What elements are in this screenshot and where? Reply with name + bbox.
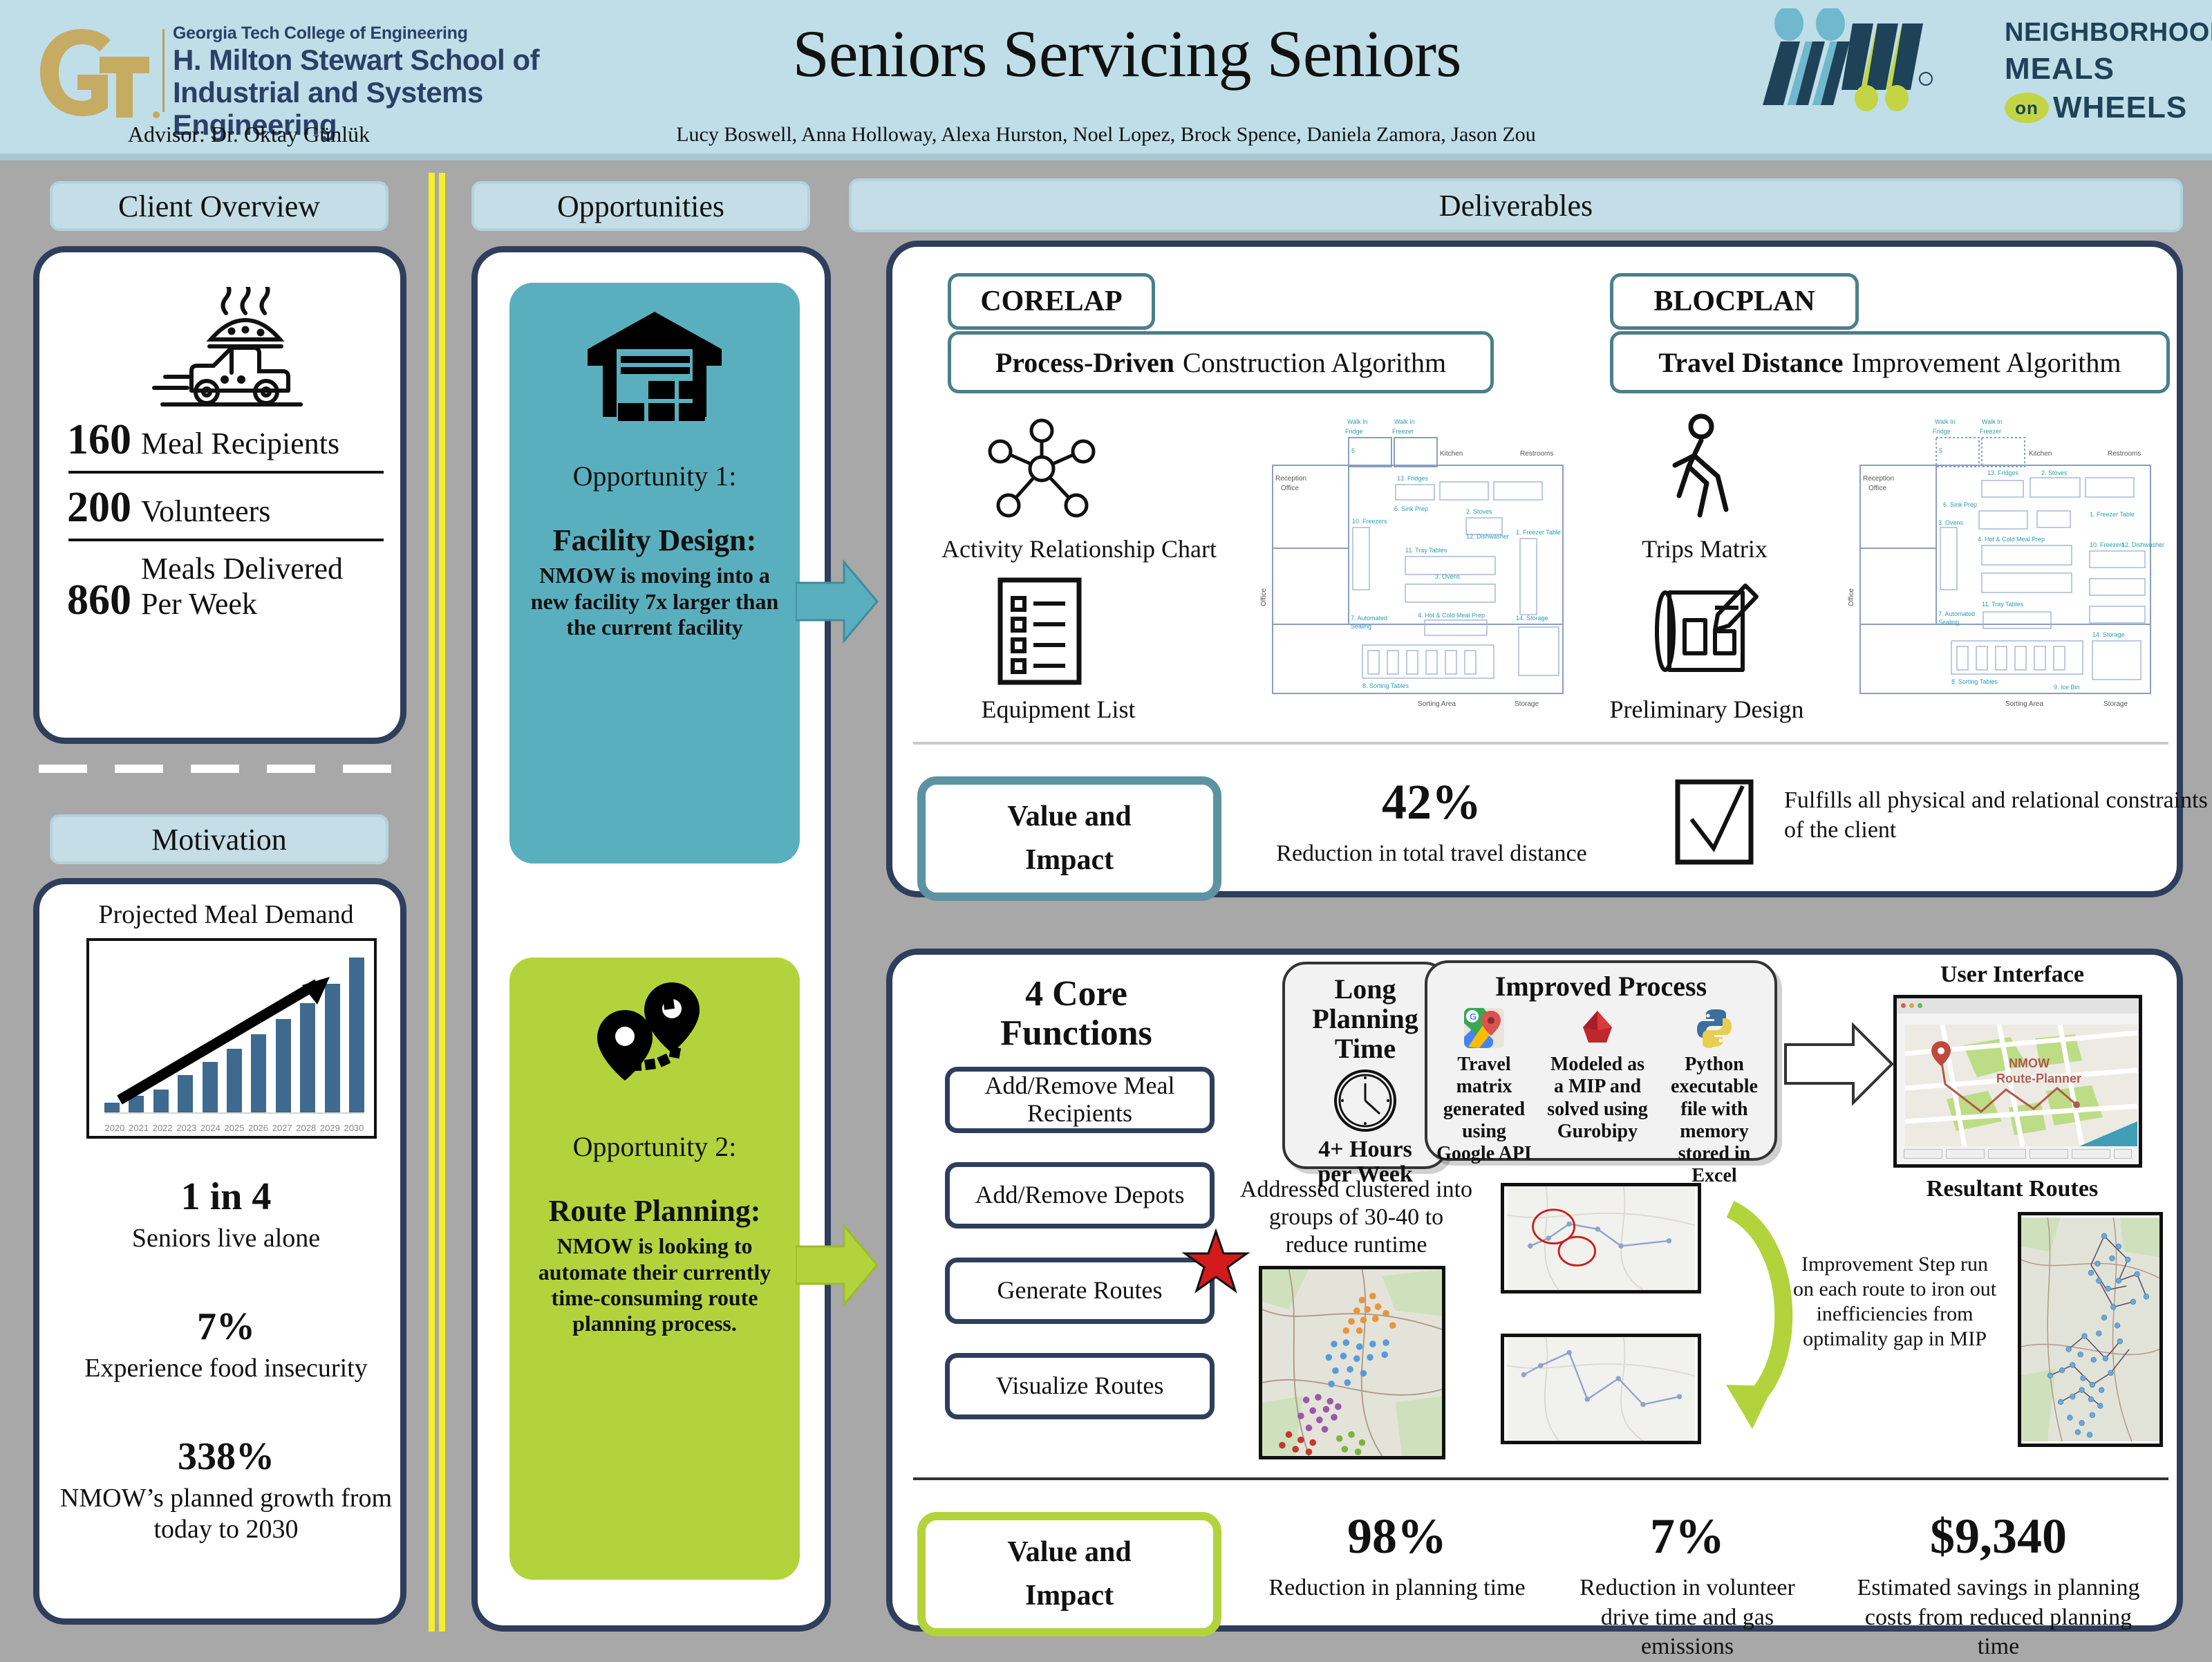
svg-text:11. Tray Tables: 11. Tray Tables (1405, 547, 1447, 554)
value-impact-line-2: Impact (1025, 1574, 1114, 1618)
stat-label: Experience food insecurity (49, 1353, 403, 1384)
stat-value: 7% (49, 1305, 403, 1349)
stat-value: 7% (1556, 1508, 1819, 1565)
opportunity-2-box: Opportunity 2: Route Planning: NMOW is l… (509, 958, 800, 1580)
blocplan-subtitle-rest: Improvement Algorithm (1852, 346, 2121, 379)
poster-header: Georgia Tech College of Engineering H. M… (0, 0, 2212, 160)
chart-x-tick: 2024 (200, 1123, 221, 1133)
svg-text:Sorting Area: Sorting Area (2005, 700, 2043, 708)
stat-value: 338% (49, 1435, 403, 1479)
planning-time-title-1: Long (1285, 974, 1445, 1004)
chart-x-axis-labels: 2020202120222023202420252026202720282029… (104, 1123, 364, 1133)
svg-text:8. Sorting Tables: 8. Sorting Tables (1362, 682, 1409, 689)
svg-text:6. Sink Prep: 6. Sink Prep (1943, 501, 1977, 508)
projected-meal-demand-chart: 2020202120222023202420252026202720282029… (86, 938, 377, 1139)
svg-text:Sorting Area: Sorting Area (1418, 700, 1456, 708)
stat-divider-1 (68, 471, 384, 474)
stat-value: 200 (67, 483, 131, 532)
cluster-map-graphic (1262, 1269, 1442, 1456)
blueprint-icon (1649, 577, 1763, 688)
python-icon (1693, 1007, 1736, 1049)
facility-floorplan-corelap: Walk InFridge Walk InFreezer 5 13. Fridg… (1259, 413, 1584, 717)
svg-text:Storage: Storage (2103, 700, 2128, 708)
value-impact-line-2: Impact (1025, 839, 1114, 882)
process-arrow-2-icon (1784, 1023, 1895, 1105)
logo-divider (162, 29, 165, 112)
resultant-routes-graphic (2021, 1215, 2159, 1444)
motivation-stat-1: 1 in 4 Seniors live alone (49, 1175, 403, 1254)
long-planning-time-box: Long Planning Time 4+ Hours per Week (1282, 962, 1448, 1169)
route-stat-98: 98% Reduction in planning time (1252, 1508, 1542, 1603)
clustered-addresses-map (1259, 1266, 1445, 1459)
svg-text:Freezer: Freezer (1980, 428, 2001, 435)
improved-process-title: Improved Process (1427, 971, 1774, 1001)
ui-button-row (1904, 1149, 2132, 1159)
facility-floorplan-blocplan: Walk InFridge Walk InFreezer 5 13. Fridg… (1846, 413, 2171, 717)
svg-text:Restrooms: Restrooms (2108, 450, 2141, 458)
svg-text:Freezer: Freezer (1392, 428, 1414, 435)
stat-label: Volunteers (141, 494, 270, 529)
equipment-list-caption: Equipment List (913, 695, 1203, 724)
corelap-subtitle-rest: Construction Algorithm (1183, 346, 1446, 379)
opportunity-2-arrow-icon (796, 1213, 879, 1317)
nmow-line-2: MEALS (2005, 52, 2212, 86)
svg-text:6. Sink Prep: 6. Sink Prep (1394, 505, 1428, 512)
svg-text:Storage: Storage (1515, 700, 1539, 708)
svg-text:Kitchen: Kitchen (2029, 450, 2052, 458)
facility-deliverables-card: CORELAP Process-Driven Construction Algo… (886, 241, 2183, 897)
facility-constraints-text: Fulfills all physical and relational con… (1784, 786, 2212, 845)
ui-titlebar (1897, 998, 2139, 1014)
corelap-tag: CORELAP (948, 273, 1155, 330)
nmow-line-3-wrap: on WHEELS (2005, 91, 2212, 125)
chart-x-tick: 2020 (104, 1123, 125, 1133)
svg-text:11. Tray Tables: 11. Tray Tables (1982, 601, 2024, 608)
stat-label: NMOW’s planned growth from today to 2030 (49, 1483, 403, 1545)
google-maps-icon: G (1463, 1007, 1506, 1049)
improved-process-box: Improved Process G Travel matrix generat… (1425, 960, 1777, 1161)
stat-divider-2 (68, 539, 384, 541)
preliminary-design-caption: Preliminary Design (1568, 695, 1845, 724)
svg-text:Walk In: Walk In (1935, 418, 1956, 425)
opportunity-2-eyebrow: Opportunity 2: (509, 1130, 800, 1163)
stat-label: Reduction in volunteer drive time and ga… (1556, 1574, 1819, 1662)
opportunity-2-title: Route Planning: (509, 1195, 800, 1228)
core-functions-title: 4 Core Functions (931, 974, 1221, 1053)
svg-text:Office: Office (1868, 485, 1886, 492)
nmow-line-1: NEIGHBORHOOD (2005, 18, 2212, 48)
meal-delivery-truck-icon (122, 287, 330, 418)
checkbox-checked-icon (1671, 776, 1758, 868)
page-title: Seniors Servicing Seniors (608, 15, 1645, 92)
svg-text:5: 5 (1351, 447, 1355, 454)
ui-minimize-dot[interactable] (1909, 1003, 1914, 1008)
nmow-wordmark: NEIGHBORHOOD MEALS on WHEELS (2005, 18, 2212, 125)
activity-relationship-chart-caption: Activity Relationship Chart (899, 534, 1259, 563)
route-pin-icon (582, 978, 727, 1089)
svg-text:9. Ice Bin: 9. Ice Bin (2054, 684, 2080, 691)
function-generate-routes[interactable]: Generate Routes (945, 1258, 1215, 1324)
facility-stat-42: 42% Reduction in total travel distance (1266, 774, 1597, 869)
opportunity-1-description: NMOW is moving into a new facility 7x la… (509, 563, 800, 639)
svg-text:5: 5 (1939, 447, 1942, 454)
nmow-on-badge: on (2005, 93, 2049, 123)
svg-text:Sealing: Sealing (1938, 619, 1959, 626)
route-after-graphic (1504, 1337, 1698, 1441)
svg-text:NMOW: NMOW (2009, 1056, 2050, 1070)
motivation-card: Projected Meal Demand 202020212022202320… (33, 878, 406, 1625)
ui-btn-remove-meal-recipient[interactable] (1946, 1149, 1985, 1159)
stat-value: 42% (1266, 774, 1597, 831)
step-3-text: Python executable file with memory store… (1659, 1054, 1770, 1187)
ui-close-dot[interactable] (1901, 1003, 1906, 1008)
trend-arrow-icon (110, 958, 352, 1110)
svg-text:Fridge: Fridge (1933, 428, 1951, 435)
stat-value: 98% (1252, 1508, 1542, 1565)
corelap-subtitle-bold: Process-Driven (995, 346, 1174, 379)
value-impact-line-1: Value and (1007, 1531, 1131, 1574)
svg-text:3. Ovens: 3. Ovens (1435, 573, 1461, 580)
equipment-list-icon (995, 576, 1085, 687)
svg-text:Reception: Reception (1275, 475, 1306, 483)
svg-text:4. Hot & Cold Meal Prep: 4. Hot & Cold Meal Prep (1978, 536, 2045, 543)
blocplan-subtitle-bold: Travel Distance (1659, 346, 1844, 379)
svg-text:12. Dishwasher: 12. Dishwasher (1466, 533, 1509, 540)
svg-text:Office: Office (1848, 588, 1855, 606)
svg-text:Fridge: Fridge (1345, 428, 1363, 435)
walking-person-icon (1658, 413, 1748, 530)
svg-text:13. Fridges: 13. Fridges (1987, 469, 2019, 476)
ui-btn-visualize-routes[interactable] (2072, 1149, 2110, 1159)
client-overview-card: 160 Meal Recipients 200 Volunteers 860 M… (33, 246, 406, 744)
value-impact-label-facility: Value and Impact (917, 776, 1221, 901)
stat-label: Meals Delivered Per Week (141, 551, 348, 622)
opportunity-1-eyebrow: Opportunity 1: (509, 460, 800, 492)
step-1-text: Travel matrix generated using Google API (1432, 1054, 1536, 1165)
stat-volunteers: 200 Volunteers (60, 483, 392, 532)
blocplan-tag: BLOCPLAN (1610, 273, 1859, 330)
chart-x-tick: 2027 (272, 1123, 292, 1133)
chart-x-tick: 2025 (224, 1123, 245, 1133)
svg-text:1. Freezer Table: 1. Freezer Table (1516, 529, 1561, 536)
stat-label: Seniors live alone (49, 1223, 403, 1254)
user-interface-mockup: NMOW Route-Planner (1893, 995, 2142, 1168)
svg-text:3. Ovens: 3. Ovens (1938, 519, 1964, 526)
stat-value: 160 (67, 416, 131, 465)
svg-text:Office: Office (1281, 485, 1299, 492)
stat-meal-recipients: 160 Meal Recipients (60, 416, 392, 465)
svg-text:12. Dishwasher: 12. Dishwasher (2121, 541, 2164, 548)
chart-baseline (104, 1112, 364, 1114)
chart-title: Projected Meal Demand (39, 899, 413, 930)
ui-btn-add-remove-depot[interactable] (1988, 1149, 2027, 1159)
chart-x-tick: 2026 (248, 1123, 269, 1133)
activity-relationship-chart-icon (980, 417, 1104, 521)
ui-btn-exit[interactable] (2114, 1149, 2132, 1159)
route-deliverables-card: 4 Core Functions Add/Remove Meal Recipie… (886, 949, 2183, 1632)
chart-x-tick: 2023 (176, 1123, 197, 1133)
stat-value: 1 in 4 (49, 1175, 403, 1219)
corelap-subtitle: Process-Driven Construction Algorithm (948, 331, 1494, 393)
chart-x-tick: 2022 (152, 1123, 173, 1133)
function-add-remove-meal-recipients[interactable]: Add/Remove Meal Recipients (945, 1067, 1215, 1133)
svg-text:Walk In: Walk In (1347, 418, 1368, 425)
road-stripe-left (429, 173, 435, 1632)
resultant-routes-map (2018, 1212, 2163, 1447)
authors-label: Lucy Boswell, Anna Holloway, Alexa Hurst… (484, 123, 1728, 147)
planning-time-footer-1: 4+ Hours (1285, 1137, 1445, 1163)
value-impact-label-route: Value and Impact (917, 1512, 1221, 1636)
blocplan-subtitle: Travel Distance Improvement Algorithm (1610, 331, 2170, 393)
clock-icon (1333, 1068, 1398, 1133)
improved-process-step-2: Modeled as a MIP and solved using Gurobi… (1546, 1007, 1649, 1187)
improved-process-step-1: G Travel matrix generated using Google A… (1432, 1007, 1536, 1187)
planning-time-title-3: Time (1285, 1034, 1445, 1063)
route-stat-7: 7% Reduction in volunteer drive time and… (1556, 1508, 1819, 1662)
ui-btn-add-meal-recipient[interactable] (1904, 1149, 1942, 1159)
stat-label: Estimated savings in planning costs from… (1853, 1574, 2144, 1662)
planning-time-title-2: Planning (1285, 1004, 1445, 1034)
improved-process-step-3: Python executable file with memory store… (1659, 1007, 1770, 1187)
chart-x-tick: 2029 (319, 1123, 340, 1133)
opportunity-1-arrow-icon (796, 550, 879, 653)
section-banner-motivation: Motivation (50, 814, 388, 864)
nmow-logo-icon (1756, 8, 2005, 112)
svg-text:7. Automated: 7. Automated (1351, 615, 1387, 622)
nmow-line-3: WHEELS (2053, 91, 2187, 125)
opportunity-2-description: NMOW is looking to automate their curren… (509, 1233, 800, 1336)
resultant-routes-caption: Resultant Routes (1874, 1176, 2150, 1202)
core-functions-title-line-1: 4 Core (931, 974, 1221, 1014)
svg-text:1. Freezer Table: 1. Freezer Table (2090, 511, 2135, 518)
chart-x-tick: 2030 (344, 1123, 364, 1133)
stat-label: Reduction in planning time (1252, 1574, 1542, 1603)
trips-matrix-caption: Trips Matrix (1584, 534, 1826, 563)
svg-text:10. Freezers: 10. Freezers (1352, 518, 1387, 525)
ui-maximize-dot[interactable] (1918, 1003, 1922, 1008)
road-stripe-right (439, 173, 445, 1632)
dashed-separator (39, 765, 404, 773)
school-line-1: H. Milton Stewart School of (173, 44, 629, 76)
warehouse-icon (582, 306, 727, 424)
user-interface-caption: User Interface (1874, 962, 2150, 988)
stat-label: Meal Recipients (141, 426, 339, 461)
step-2-text: Modeled as a MIP and solved using Gurobi… (1546, 1054, 1649, 1143)
svg-text:Kitchen: Kitchen (1440, 450, 1463, 458)
stat-label: Reduction in total travel distance (1266, 839, 1597, 869)
svg-text:Route-Planner: Route-Planner (1996, 1072, 2081, 1085)
section-banner-client-overview: Client Overview (50, 181, 388, 231)
gurobi-icon (1576, 1007, 1619, 1049)
stat-value: 860 (67, 576, 131, 625)
section-banner-opportunities: Opportunities (471, 181, 810, 231)
value-impact-divider-2 (913, 1477, 2168, 1480)
chart-x-tick: 2021 (129, 1123, 149, 1133)
svg-text:7. Automated: 7. Automated (1938, 610, 1975, 617)
road-divider (419, 173, 453, 1632)
motivation-stat-2: 7% Experience food insecurity (49, 1305, 403, 1384)
svg-text:Reception: Reception (1863, 475, 1894, 483)
svg-text:13. Fridges: 13. Fridges (1397, 475, 1429, 482)
svg-text:G: G (1470, 1011, 1477, 1022)
function-add-remove-depots[interactable]: Add/Remove Depots (945, 1162, 1215, 1229)
svg-text:Walk In: Walk In (1982, 418, 2003, 425)
svg-text:Restrooms: Restrooms (1520, 450, 1553, 458)
svg-text:2. Stoves: 2. Stoves (2041, 469, 2068, 476)
svg-text:Walk In: Walk In (1394, 418, 1415, 425)
value-impact-divider-1 (913, 742, 2168, 745)
stat-value: $9,340 (1853, 1508, 2144, 1565)
svg-text:Sealing: Sealing (1351, 623, 1371, 630)
cluster-note: Addressed clustered into groups of 30-40… (1235, 1176, 1477, 1259)
svg-text:4. Hot & Cold Meal Prep: 4. Hot & Cold Meal Prep (1418, 612, 1485, 619)
svg-text:2. Stoves: 2. Stoves (1466, 508, 1492, 515)
opportunity-1-box: Opportunity 1: Facility Design: NMOW is … (509, 283, 800, 863)
opportunities-card: Opportunity 1: Facility Design: NMOW is … (471, 246, 831, 1632)
chart-x-tick: 2028 (296, 1123, 317, 1133)
route-before-map (1501, 1183, 1701, 1294)
svg-text:14. Storage: 14. Storage (1516, 615, 1548, 622)
opportunity-1-title: Facility Design: (509, 524, 800, 557)
ui-btn-generate-routes[interactable] (2030, 1149, 2068, 1159)
advisor-label: Advisor: Dr. Oktay Günlük (41, 122, 456, 147)
svg-text:Office: Office (1260, 588, 1268, 606)
value-impact-line-1: Value and (1007, 795, 1131, 839)
improvement-note: Improvement Step run on each route to ir… (1791, 1252, 1998, 1352)
ui-map-preview: NMOW Route-Planner (1905, 1025, 2137, 1146)
function-visualize-routes[interactable]: Visualize Routes (945, 1353, 1215, 1419)
georgia-tech-logo (28, 21, 166, 124)
core-functions-title-line-2: Functions (931, 1014, 1221, 1053)
motivation-stat-3: 338% NMOW’s planned growth from today to… (49, 1435, 403, 1545)
route-before-graphic (1504, 1186, 1698, 1290)
route-after-map (1501, 1334, 1701, 1444)
stat-meals-delivered: 860 Meals Delivered Per Week (60, 551, 392, 625)
svg-text:14. Storage: 14. Storage (2092, 631, 2125, 638)
route-stat-savings: $9,340 Estimated savings in planning cos… (1853, 1508, 2144, 1662)
svg-text:10. Freezers: 10. Freezers (2090, 541, 2125, 548)
college-line: Georgia Tech College of Engineering (173, 24, 629, 44)
section-banner-deliverables: Deliverables (849, 178, 2183, 232)
svg-text:8. Sorting Tables: 8. Sorting Tables (1951, 678, 1998, 685)
